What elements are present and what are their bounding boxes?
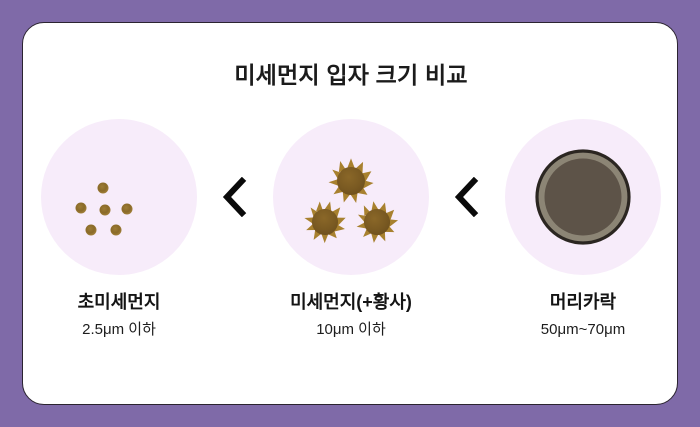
six-tiny-dots-icon xyxy=(41,119,197,275)
ultrafine-dust-size: 2.5μm 이하 xyxy=(78,322,161,337)
hair-cross-section-icon xyxy=(505,119,661,275)
fine-dust-size: 10μm 이하 xyxy=(290,322,412,337)
ultrafine-dust-disc xyxy=(41,119,197,275)
human-hair-disc xyxy=(505,119,661,275)
chevron-left-icon xyxy=(222,177,248,217)
page-title: 미세먼지 입자 크기 비교 xyxy=(23,56,679,90)
three-spiky-particles-icon xyxy=(273,119,429,275)
ultrafine-dust-caption: 초미세먼지 2.5μm 이하 xyxy=(78,293,161,337)
human-hair-size: 50μm~70μm xyxy=(541,322,625,337)
chevron-left-icon xyxy=(454,177,480,217)
ultrafine-dust-label: 초미세먼지 xyxy=(78,293,161,311)
infographic-root: 미세먼지 입자 크기 비교 xyxy=(0,0,700,427)
fine-dust-caption: 미세먼지(+황사) 10μm 이하 xyxy=(290,293,412,337)
comparison-separator-1 xyxy=(214,119,256,275)
comparison-item-ultrafine-dust: 초미세먼지 2.5μm 이하 xyxy=(24,119,214,337)
content-card: 미세먼지 입자 크기 비교 xyxy=(22,22,678,405)
comparison-item-fine-dust: 미세먼지(+황사) 10μm 이하 xyxy=(256,119,446,337)
fine-dust-disc xyxy=(273,119,429,275)
comparison-row: 초미세먼지 2.5μm 이하 xyxy=(23,119,679,379)
human-hair-label: 머리카락 xyxy=(541,293,625,311)
comparison-item-human-hair: 머리카락 50μm~70μm xyxy=(488,119,678,337)
comparison-separator-2 xyxy=(446,119,488,275)
fine-dust-label: 미세먼지(+황사) xyxy=(290,293,412,311)
human-hair-caption: 머리카락 50μm~70μm xyxy=(541,293,625,337)
